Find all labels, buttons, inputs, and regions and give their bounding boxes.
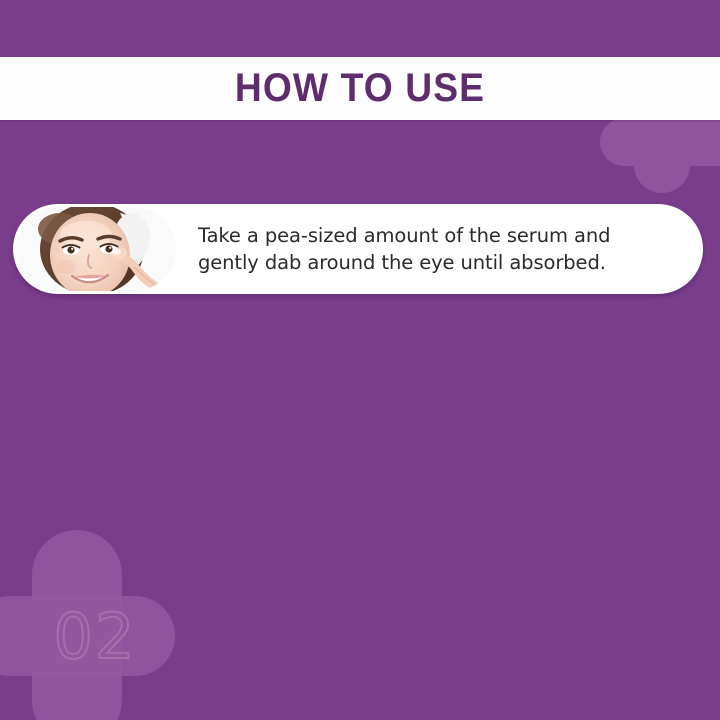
page-title: HOW TO USE — [25, 57, 695, 120]
header-banner: HOW TO USE — [0, 57, 720, 120]
decor-plus-horizontal-bar — [600, 118, 720, 166]
step-number: 02 — [0, 596, 190, 678]
step-instruction-text: Take a pea-sized amount of the serum and… — [198, 222, 673, 276]
step-instruction-line-1: Take a pea-sized amount of the serum and — [198, 222, 673, 249]
how-to-use-slide: 02 HOW TO USE — [0, 0, 720, 720]
decor-plus-horizontal-bar — [0, 596, 175, 676]
decor-plus-vertical-bar — [32, 530, 122, 720]
instruction-card: Take a pea-sized amount of the serum and… — [13, 204, 703, 294]
woman-applying-eye-serum-image — [16, 207, 176, 291]
decor-plus-vertical-bar — [634, 118, 690, 193]
decor-plus-center — [32, 596, 122, 676]
decor-plus-bottom-left — [0, 530, 230, 720]
step-instruction-line-2: gently dab around the eye until absorbed… — [198, 249, 673, 276]
step-photo — [16, 207, 176, 291]
